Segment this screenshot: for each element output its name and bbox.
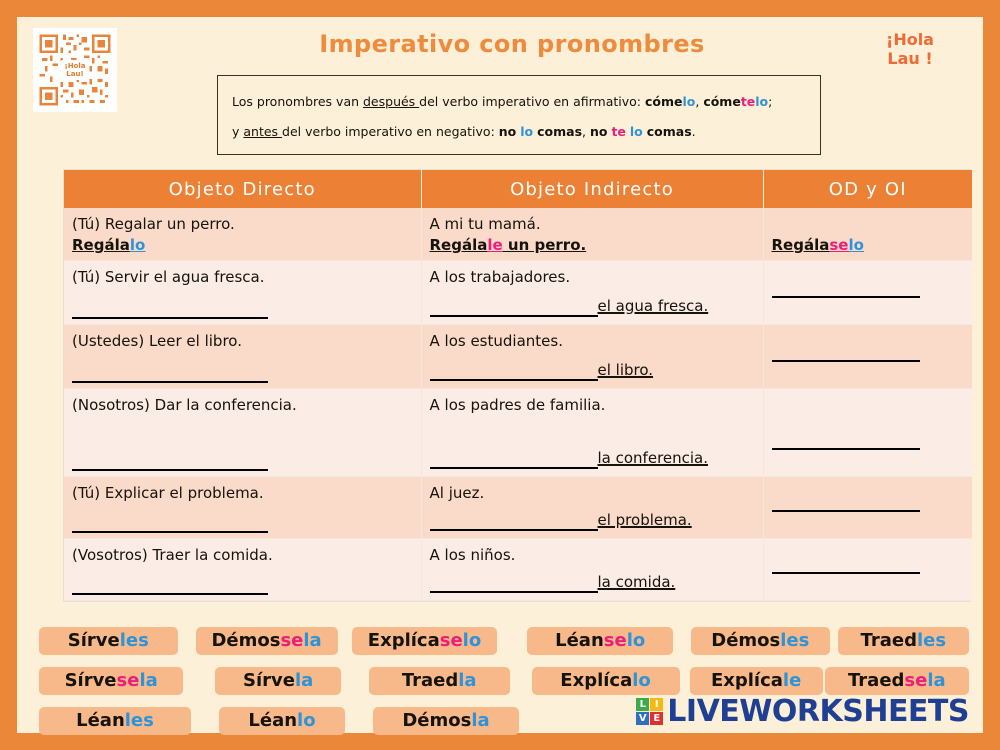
cell-od-y-oi[interactable] (763, 389, 972, 477)
chip-od-pronoun: la (927, 670, 945, 691)
od-blank[interactable] (72, 362, 413, 383)
word-bank-chip[interactable]: Explícaselo (352, 627, 498, 655)
logo-tile-i: I (650, 698, 663, 711)
chip-oi-pronoun: se (280, 630, 303, 651)
oi-blank[interactable]: la comida. (430, 572, 755, 593)
word-bank-chip[interactable]: Léanselo (527, 627, 673, 655)
chip-oi-pronoun: se (904, 670, 927, 691)
both-blank[interactable] (772, 553, 965, 574)
chip-stem: Traed (848, 670, 904, 691)
chip-stem: Explíca (711, 670, 783, 691)
word-bank-chip[interactable]: Léanlo (219, 707, 345, 735)
oi-blank[interactable]: el libro. (430, 360, 755, 381)
chip-od-pronoun: les (120, 630, 149, 651)
chip-stem: Léan (248, 710, 297, 731)
chip-od-pronoun: la (139, 670, 157, 691)
chip-od-pronoun: la (295, 670, 313, 691)
oi-given-tail: la conferencia. (598, 449, 709, 467)
note2-no1: no (499, 124, 517, 139)
table-row: (Nosotros) Dar la conferencia.A los padr… (64, 389, 972, 477)
note2-sep: , (582, 124, 590, 139)
word-bank-chip[interactable]: Traedles (838, 627, 969, 655)
chip-stem: Léan (555, 630, 604, 651)
column-header-od-y-oi: OD y OI (763, 170, 972, 208)
both-oi-pronoun: se (829, 236, 848, 254)
column-header-objeto-directo: Objeto Directo (64, 170, 421, 208)
instruction-box: Los pronombres van después del verbo imp… (217, 75, 821, 155)
cell-objeto-indirecto[interactable]: A mi tu mamá.Regálale un perro. (421, 208, 763, 261)
cell-objeto-indirecto[interactable]: A los trabajadores.el agua fresca. (421, 261, 763, 325)
note2-od2: lo (630, 124, 643, 139)
cell-objeto-indirecto[interactable]: A los padres de familia.la conferencia. (421, 389, 763, 477)
word-bank-chip[interactable]: Démossela (196, 627, 338, 655)
note1-od2: lo (755, 94, 768, 109)
chip-stem: Léan (76, 710, 125, 731)
od-pronoun: lo (130, 236, 145, 254)
worksheet-sheet: ¡Hola Lau! Imperativo con pronombres ¡Ho… (17, 17, 983, 733)
chip-od-pronoun: la (458, 670, 476, 691)
chip-od-pronoun: lo (463, 630, 482, 651)
note1-verb1: cóme (645, 94, 683, 109)
chip-stem: Traed (402, 670, 458, 691)
od-blank[interactable] (72, 512, 413, 533)
chip-stem: Traed (861, 630, 917, 651)
page-title: Imperativo con pronombres (232, 30, 792, 58)
chip-od-pronoun: la (471, 710, 489, 731)
exercise-table: Objeto Directo Objeto Indirecto OD y OI … (63, 169, 971, 602)
oi-answer-tail: un perro. (503, 236, 587, 254)
chip-stem: Démos (711, 630, 780, 651)
both-od-pronoun: lo (848, 236, 863, 254)
word-bank-chip[interactable]: Démosla (373, 707, 519, 735)
logo-tile-v: V (636, 712, 649, 725)
column-header-objeto-indirecto: Objeto Indirecto (421, 170, 763, 208)
oi-given-tail: el libro. (598, 361, 654, 379)
cell-objeto-directo[interactable]: (Nosotros) Dar la conferencia. (64, 389, 421, 477)
cell-objeto-indirecto[interactable]: A los estudiantes.el libro. (421, 325, 763, 389)
table-row: (Tú) Regalar un perro.RegálaloA mi tu ma… (64, 208, 972, 261)
chip-od-pronoun: la (303, 630, 321, 651)
instruction-line-2: y antes del verbo imperativo en negativo… (232, 117, 806, 147)
note2-underline-antes: antes (243, 124, 282, 139)
cell-od-y-oi[interactable] (763, 477, 972, 539)
note2-oi2: te (611, 124, 625, 139)
od-answer: Regálalo (72, 235, 413, 256)
chip-oi-pronoun: se (440, 630, 463, 651)
cell-objeto-directo[interactable]: (Ustedes) Leer el libro. (64, 325, 421, 389)
cell-objeto-indirecto[interactable]: Al juez.el problema. (421, 477, 763, 539)
qr-code-icon[interactable]: ¡Hola Lau! (33, 28, 117, 112)
od-prompt: (Ustedes) Leer el libro. (72, 331, 413, 352)
liveworksheets-logo: LIVE LIVEWORKSHEETS (636, 694, 969, 729)
chip-stem: Sírve (243, 670, 295, 691)
chip-od-pronoun: le (783, 670, 801, 691)
od-prompt: (Tú) Explicar el problema. (72, 483, 413, 504)
od-prompt: (Nosotros) Dar la conferencia. (72, 395, 413, 416)
word-bank-chip[interactable]: Léanles (39, 707, 191, 735)
chip-od-pronoun: lo (627, 630, 646, 651)
table-row: (Ustedes) Leer el libro.A los estudiante… (64, 325, 972, 389)
note2-no2: no (590, 124, 608, 139)
both-blank[interactable] (772, 341, 965, 362)
od-prompt: (Vosotros) Traer la comida. (72, 545, 413, 566)
oi-blank[interactable]: el agua fresca. (430, 296, 755, 317)
greeting-label: ¡Hola Lau ! (855, 30, 965, 68)
chip-od-pronoun: les (125, 710, 154, 731)
chip-oi-pronoun: se (604, 630, 627, 651)
oi-prompt: A mi tu mamá. (430, 214, 755, 235)
chip-stem: Sírve (65, 670, 117, 691)
both-blank[interactable] (772, 491, 965, 512)
note2-part1: y (232, 124, 243, 139)
both-answer: Regálaselo (772, 235, 965, 256)
word-bank-chip[interactable]: Sírvela (215, 667, 341, 695)
cell-objeto-directo[interactable]: (Tú) Regalar un perro.Regálalo (64, 208, 421, 261)
note1-od1: lo (682, 94, 695, 109)
oi-prompt: A los niños. (430, 545, 755, 566)
oi-prompt: A los estudiantes. (430, 331, 755, 352)
od-blank[interactable] (72, 298, 413, 319)
word-bank-chip[interactable]: Explícalo (532, 667, 680, 695)
note1-oi2: te (741, 94, 755, 109)
note1-part2: del verbo imperativo en afirmativo: (419, 94, 645, 109)
cell-objeto-directo[interactable]: (Tú) Explicar el problema. (64, 477, 421, 539)
oi-prompt: A los padres de familia. (430, 395, 755, 416)
chip-stem: Sírve (68, 630, 120, 651)
cell-objeto-directo[interactable]: (Vosotros) Traer la comida. (64, 539, 421, 601)
table-header-row: Objeto Directo Objeto Indirecto OD y OI (64, 170, 972, 208)
chip-oi-pronoun: se (117, 670, 140, 691)
note1-end: ; (768, 94, 772, 109)
worksheet-page: ¡Hola Lau! Imperativo con pronombres ¡Ho… (0, 0, 1000, 750)
od-blank[interactable] (72, 450, 413, 471)
oi-given-tail: el problema. (598, 511, 692, 529)
word-bank-chip[interactable]: Explícale (690, 667, 823, 695)
table-body: (Tú) Regalar un perro.RegálaloA mi tu ma… (64, 208, 972, 601)
word-bank-row: SírvelesDémosselaExplícaseloLéanseloDémo… (39, 621, 969, 661)
instruction-line-1: Los pronombres van después del verbo imp… (232, 87, 806, 117)
chip-stem: Explíca (560, 670, 632, 691)
logo-tile-l: L (636, 698, 649, 711)
note1-underline-despues: después (363, 94, 419, 109)
both-blank[interactable] (772, 277, 965, 298)
oi-blank[interactable]: el problema. (430, 510, 755, 531)
note2-part2: del verbo imperativo en negativo: (282, 124, 499, 139)
cell-od-y-oi[interactable]: Regálaselo (763, 208, 972, 261)
note2-comas2: comas (647, 124, 692, 139)
chip-od-pronoun: les (780, 630, 809, 651)
liveworksheets-wordmark: LIVEWORKSHEETS (667, 694, 969, 729)
note2-od1: lo (520, 124, 533, 139)
oi-given-tail: la comida. (598, 573, 676, 591)
word-bank-chip[interactable]: Sírveles (39, 627, 178, 655)
liveworksheets-tiles-icon: LIVE (636, 698, 663, 725)
word-bank-chip[interactable]: Traedla (369, 667, 510, 695)
note2-end: . (692, 124, 696, 139)
table-row: (Vosotros) Traer la comida.A los niños.l… (64, 539, 972, 601)
logo-tile-e: E (650, 712, 663, 725)
chip-stem: Démos (402, 710, 471, 731)
cell-objeto-directo[interactable]: (Tú) Servir el agua fresca. (64, 261, 421, 325)
chip-od-pronoun: lo (297, 710, 316, 731)
word-bank-chip[interactable]: Sírvesela (39, 667, 183, 695)
oi-answer: Regálale un perro. (430, 235, 755, 256)
both-blank[interactable] (772, 429, 965, 450)
cell-objeto-indirecto[interactable]: A los niños.la comida. (421, 539, 763, 601)
chip-stem: Explíca (368, 630, 440, 651)
cell-od-y-oi[interactable] (763, 539, 972, 601)
qr-center-label: ¡Hola Lau! (62, 60, 89, 80)
od-prompt: (Tú) Servir el agua fresca. (72, 267, 413, 288)
oi-given-tail: el agua fresca. (598, 297, 709, 315)
oi-blank[interactable]: la conferencia. (430, 448, 755, 469)
word-bank-chip[interactable]: Traedsela (825, 667, 969, 695)
chip-stem: Démos (211, 630, 280, 651)
note2-comas1: comas (537, 124, 582, 139)
note1-part1: Los pronombres van (232, 94, 363, 109)
table-row: (Tú) Explicar el problema.Al juez.el pro… (64, 477, 972, 539)
oi-prompt: Al juez. (430, 483, 755, 504)
word-bank-chip[interactable]: Démosles (691, 627, 830, 655)
chip-od-pronoun: lo (632, 670, 651, 691)
od-blank[interactable] (72, 574, 413, 595)
cell-od-y-oi[interactable] (763, 261, 972, 325)
cell-od-y-oi[interactable] (763, 325, 972, 389)
chip-od-pronoun: les (917, 630, 946, 651)
oi-pronoun: le (487, 236, 502, 254)
note1-verb2: cóme (703, 94, 741, 109)
od-prompt: (Tú) Regalar un perro. (72, 214, 413, 235)
oi-prompt: A los trabajadores. (430, 267, 755, 288)
table-row: (Tú) Servir el agua fresca.A los trabaja… (64, 261, 972, 325)
